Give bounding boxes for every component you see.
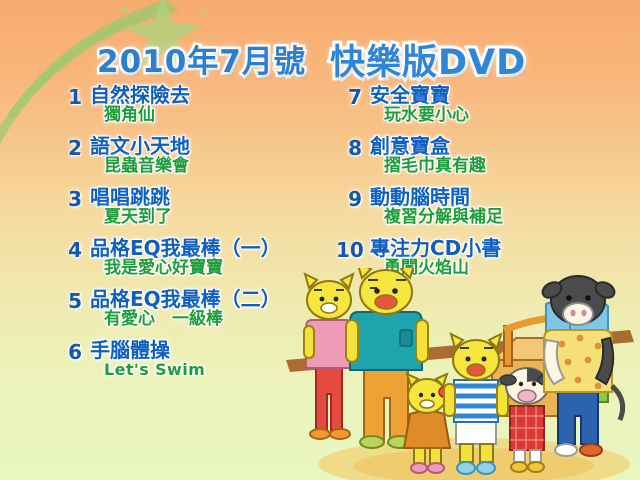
menu-item-1[interactable]: 1自然探險去獨角仙	[56, 84, 346, 126]
menu-item-subtitle: 複習分解與補足	[384, 208, 626, 228]
issue-title: 2010年7月號	[97, 36, 306, 81]
menu-item-number: 6	[56, 340, 82, 364]
menu-item-9[interactable]: 9動動腦時間複習分解與補足	[336, 186, 626, 228]
menu-item-number: 5	[56, 289, 82, 313]
menu-item-subtitle: 玩水要小心	[384, 106, 626, 126]
menu-item-title: 語文小天地	[90, 135, 346, 157]
menu-item-3[interactable]: 3唱唱跳跳夏天到了	[56, 186, 346, 228]
menu-item-subtitle: 摺毛巾真有趣	[384, 157, 626, 177]
menu-item-number: 1	[56, 85, 82, 109]
menu-item-subtitle: 昆蟲音樂會	[104, 157, 346, 177]
menu-item-title: 安全寶寶	[370, 84, 626, 106]
menu-item-number: 10	[336, 238, 362, 262]
cow-adult-floral-top	[540, 276, 623, 456]
menu-item-title: 自然探險去	[90, 84, 346, 106]
menu-item-title: 唱唱跳跳	[90, 186, 346, 208]
character-artwork	[278, 268, 640, 480]
menu-item-number: 7	[336, 85, 362, 109]
title-row: 2010年7月號 快樂版DVD	[0, 36, 640, 84]
menu-item-title: 動動腦時間	[370, 186, 626, 208]
menu-item-title: 專注力CD小書	[370, 237, 626, 259]
menu-column-right: 7安全寶寶玩水要小心8創意寶盒摺毛巾真有趣9動動腦時間複習分解與補足10專注力C…	[336, 84, 626, 288]
menu-item-title: 品格EQ我最棒（一）	[90, 237, 346, 259]
menu-item-8[interactable]: 8創意寶盒摺毛巾真有趣	[336, 135, 626, 177]
menu-item-number: 9	[336, 187, 362, 211]
menu-item-number: 4	[56, 238, 82, 262]
menu-item-subtitle: 獨角仙	[104, 106, 346, 126]
menu-item-number: 3	[56, 187, 82, 211]
menu-item-7[interactable]: 7安全寶寶玩水要小心	[336, 84, 626, 126]
edition-title: 快樂版DVD	[330, 34, 526, 85]
menu-item-title: 創意寶盒	[370, 135, 626, 157]
menu-item-number: 2	[56, 136, 82, 160]
dvd-menu-screen: 2010年7月號 快樂版DVD 1自然探險去獨角仙2語文小天地昆蟲音樂會3唱唱跳…	[0, 0, 640, 480]
menu-item-subtitle: 夏天到了	[104, 208, 346, 228]
menu-item-2[interactable]: 2語文小天地昆蟲音樂會	[56, 135, 346, 177]
menu-item-number: 8	[336, 136, 362, 160]
